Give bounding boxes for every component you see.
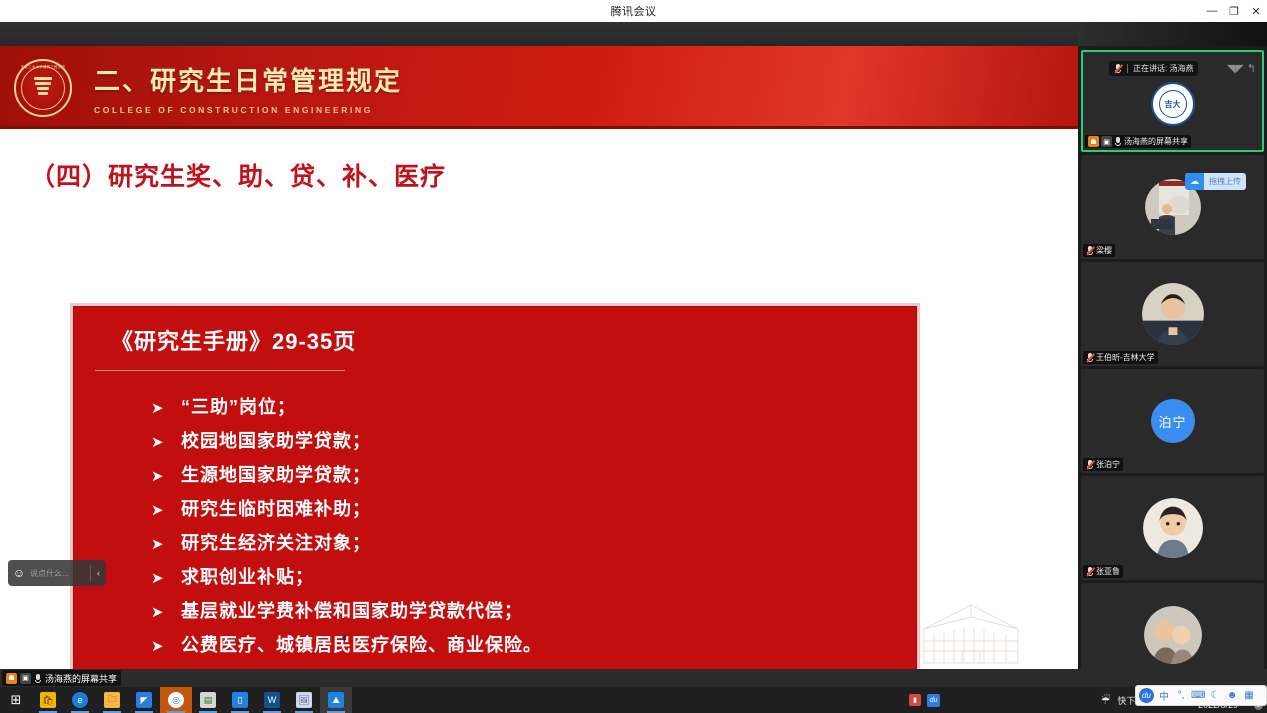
speaking-label: 正在讲话: 汤海燕 (1133, 63, 1193, 74)
list-item: ➤ 研究生经济关注对象； (151, 529, 917, 555)
start-button[interactable]: ⊞ (0, 687, 32, 713)
participant-tile[interactable]: ☁ 拖拽上传 梁樱 (1081, 155, 1264, 259)
participant-name: 张泊宁 (1096, 459, 1120, 470)
ime-language-icon[interactable]: 中 (1157, 688, 1171, 703)
participant-name-badge: 王伯昕-吉林大学 (1083, 351, 1158, 364)
tencent-meeting-icon: ◎ (168, 692, 184, 708)
window-title: 腾讯会议 (611, 3, 657, 19)
photos-icon: 🖼 (296, 692, 312, 708)
close-button[interactable]: ✕ (1245, 0, 1267, 22)
shared-app-logo-icon: 吉大 (1151, 82, 1195, 126)
arrow-bullet-icon: ➤ (151, 571, 181, 586)
list-item: ➤ “三助”岗位； (151, 393, 917, 419)
slide-content-box: 《研究生手册》29-35页 ➤ “三助”岗位； ➤ 校园地国家助学贷款； ➤ (70, 303, 920, 669)
ime-toolbar[interactable]: du 中 °, ⌨ ☾ ☻ ▦ (1135, 685, 1267, 706)
avatar (1144, 606, 1202, 664)
slide-header-title: 二、研究生日常管理规定 (94, 61, 402, 98)
list-item: ➤ 求职创业补贴； (151, 563, 917, 589)
windows-taskbar[interactable]: ⊞ 🛍 e 🗀 ◤ ◎ ▤ ▯ W (0, 687, 1267, 713)
host-icon: ☗ (6, 673, 17, 684)
chat-input[interactable]: 说点什么... (30, 568, 90, 579)
list-item-label: 校园地国家助学贷款； (181, 427, 371, 453)
taskbar-item-word[interactable]: W (256, 687, 288, 713)
host-icon: ☗ (1088, 136, 1099, 147)
shared-content-topbar (0, 22, 1078, 46)
participant-tile[interactable]: 王伯昕-吉林大学 (1081, 262, 1264, 366)
weather-icon[interactable]: ☔ (1100, 694, 1110, 707)
participant-name: 王伯昕-吉林大学 (1096, 352, 1155, 363)
ime-moon-icon[interactable]: ☾ (1208, 690, 1222, 701)
mountain-icon: ⛰ (328, 692, 344, 708)
list-item: ➤ 校园地国家助学贷款； (151, 427, 917, 453)
screen-share-icon: ▣ (1101, 136, 1112, 147)
participant-rail[interactable]: 正在讲话: 汤海燕 ◥◤ ↰ 吉大 ☗ ▣ 汤海燕的屏幕共享 (1078, 46, 1267, 669)
mic-icon (1114, 137, 1122, 146)
list-item-label: 求职创业补贴； (181, 563, 314, 589)
edge-icon: e (72, 692, 88, 708)
participant-name-badge: 张亚鲁 (1083, 565, 1123, 578)
taskbar-item-blue-app[interactable]: ◤ (128, 687, 160, 713)
crest-ring-label: 东北工业大学建筑工程学院 (16, 64, 70, 69)
list-item-label: 研究生经济关注对象； (181, 529, 371, 555)
title-divider (95, 370, 345, 371)
list-item: ➤ 研究生临时困难补助； (151, 495, 917, 521)
phone-icon: ▯ (232, 692, 248, 708)
participant-name: 张亚鲁 (1096, 566, 1120, 577)
share-status-label: 汤海燕的屏幕共享 (45, 672, 117, 685)
arrow-bullet-icon: ➤ (151, 639, 181, 654)
list-item-label: 公费医疗、城镇居民医疗保险、商业保险。 (181, 631, 542, 657)
maximize-button[interactable]: ❐ (1223, 0, 1245, 22)
mic-muted-icon (1086, 567, 1094, 576)
avatar (1142, 283, 1204, 345)
taskbar-item-file-explorer[interactable]: 🗀 (96, 687, 128, 713)
slide-section-title: （四）研究生奖、助、贷、补、医疗 (30, 157, 446, 193)
ime-menu-grid-icon[interactable]: ▦ (1242, 690, 1256, 701)
arrow-bullet-icon: ➤ (151, 537, 181, 552)
ime-punctuation-icon[interactable]: °, (1174, 690, 1188, 701)
taskbar-item-microsoft-store[interactable]: 🛍 (32, 687, 64, 713)
taskbar-item-mountain-app[interactable]: ⛰ (320, 687, 352, 713)
drag-upload-badge[interactable]: ☁ 拖拽上传 (1185, 173, 1246, 190)
arrow-bullet-icon: ➤ (151, 401, 181, 416)
participant-name: 梁樱 (1096, 245, 1112, 256)
meeting-shell: 东北工业大学建筑工程学院 二、研究生日常管理规定 COLLEGE OF CONS… (0, 22, 1267, 669)
bullet-list: ➤ “三助”岗位； ➤ 校园地国家助学贷款； ➤ 生源地国家助学贷款； ➤ (151, 393, 917, 657)
arrow-bullet-icon: ➤ (151, 503, 181, 518)
participant-name-badge: 张泊宁 (1083, 458, 1123, 471)
table-app-icon: ▤ (200, 692, 216, 708)
taskbar-item-tencent-meeting[interactable]: ◎ (160, 687, 192, 713)
window-controls: — ❐ ✕ (1201, 0, 1267, 22)
avatar: 泊宁 (1151, 399, 1195, 443)
chevron-left-icon[interactable]: ‹ (90, 565, 106, 581)
meeting-chat-input-bar[interactable]: ☺ 说点什么... ‹ (8, 560, 106, 586)
arrow-bullet-icon: ➤ (151, 435, 181, 450)
list-item: ➤ 生源地国家助学贷款； (151, 461, 917, 487)
screen-share-icon: ▣ (20, 673, 31, 684)
windows-logo-icon: ⊞ (8, 692, 24, 708)
taskbar-icons: ⊞ 🛍 e 🗀 ◤ ◎ ▤ ▯ W (0, 687, 352, 713)
rail-topbar (1078, 22, 1267, 46)
shared-screen-content[interactable]: 东北工业大学建筑工程学院 二、研究生日常管理规定 COLLEGE OF CONS… (0, 46, 1078, 669)
slide-body: （四）研究生奖、助、贷、补、医疗 《研究生手册》29-35页 ➤ “三助”岗位；… (0, 129, 1078, 669)
participant-name: 汤海燕的屏幕共享 (1124, 136, 1188, 147)
university-crest-icon: 东北工业大学建筑工程学院 (14, 59, 72, 117)
mic-muted-icon (1086, 353, 1094, 362)
taskbar-item-photos[interactable]: 🖼 (288, 687, 320, 713)
mic-muted-icon (1086, 246, 1094, 255)
mic-icon (34, 674, 42, 683)
mic-muted-icon (1114, 64, 1122, 73)
slide-header-subtitle: COLLEGE OF CONSTRUCTION ENGINEERING (94, 105, 402, 115)
participant-name-badge: 梁樱 (1083, 244, 1115, 257)
arrow-bullet-icon: ➤ (151, 469, 181, 484)
participant-tile[interactable]: 张亚鲁 (1081, 476, 1264, 580)
list-item-label: 生源地国家助学贷款； (181, 461, 371, 487)
taskbar-item-phone-app[interactable]: ▯ (224, 687, 256, 713)
arrow-bullet-icon: ➤ (151, 605, 181, 620)
blue-app-icon: ◤ (136, 692, 152, 708)
folder-icon: 🗀 (104, 692, 120, 708)
participant-name-badge: ☗ ▣ 汤海燕的屏幕共享 (1085, 135, 1191, 148)
ime-keyboard-icon[interactable]: ⌨ (1191, 690, 1205, 701)
ime-user-icon[interactable]: ☻ (1225, 690, 1239, 701)
shared-app-logo-text: 吉大 (1159, 90, 1187, 118)
crest-emblem-icon (34, 77, 52, 99)
handbook-reference-title: 《研究生手册》29-35页 (111, 324, 917, 356)
cloud-upload-icon: ☁ (1185, 173, 1204, 190)
list-item-label: “三助”岗位； (181, 393, 296, 419)
tencent-meeting-window: 腾讯会议 — ❐ ✕ 东北工业大学建筑工程学院 二、研究生日常管理规定 COLL… (0, 0, 1267, 713)
building-sketch-watermark-icon (916, 599, 1026, 669)
baidu-tray-icon[interactable]: du (927, 694, 940, 707)
store-icon: 🛍 (40, 692, 56, 708)
tray-left-icons: ▮ du (909, 687, 940, 713)
word-icon: W (264, 692, 280, 708)
slide-header-text: 二、研究生日常管理规定 COLLEGE OF CONSTRUCTION ENGI… (94, 61, 402, 115)
drag-upload-label: 拖拽上传 (1204, 176, 1246, 187)
list-item-label: 基层就业学费补偿和国家助学贷款代偿； (181, 597, 523, 623)
taskbar-item-table-app[interactable]: ▤ (192, 687, 224, 713)
baidu-ime-logo-icon[interactable]: du (1139, 688, 1154, 703)
participant-tile[interactable]: 泊宁 张泊宁 (1081, 369, 1264, 473)
volume-arrows-icon[interactable]: ◥◤ ↰ (1227, 62, 1256, 75)
slide-header-banner: 东北工业大学建筑工程学院 二、研究生日常管理规定 COLLEGE OF CONS… (0, 46, 1078, 129)
avatar (1143, 498, 1203, 558)
minimize-button[interactable]: — (1201, 0, 1223, 22)
list-item-label: 研究生临时困难补助； (181, 495, 371, 521)
speaking-indicator: 正在讲话: 汤海燕 (1109, 61, 1198, 76)
taskbar-item-microsoft-edge[interactable]: e (64, 687, 96, 713)
list-item: ➤ 基层就业学费补偿和国家助学贷款代偿； (151, 597, 917, 623)
screen-share-statusbar: ☗ ▣ 汤海燕的屏幕共享 (0, 669, 1267, 687)
emoji-icon[interactable]: ☺ (8, 566, 30, 580)
list-item: ➤ 公费医疗、城镇居民医疗保险、商业保险。 (151, 631, 917, 657)
window-titlebar: 腾讯会议 — ❐ ✕ (0, 0, 1267, 22)
participant-tile-screenshare[interactable]: 正在讲话: 汤海燕 ◥◤ ↰ 吉大 ☗ ▣ 汤海燕的屏幕共享 (1081, 50, 1264, 152)
mic-muted-icon (1086, 460, 1094, 469)
pdf-tray-icon[interactable]: ▮ (909, 694, 921, 706)
share-status-chip[interactable]: ☗ ▣ 汤海燕的屏幕共享 (2, 670, 121, 686)
pill-divider (1127, 64, 1128, 73)
